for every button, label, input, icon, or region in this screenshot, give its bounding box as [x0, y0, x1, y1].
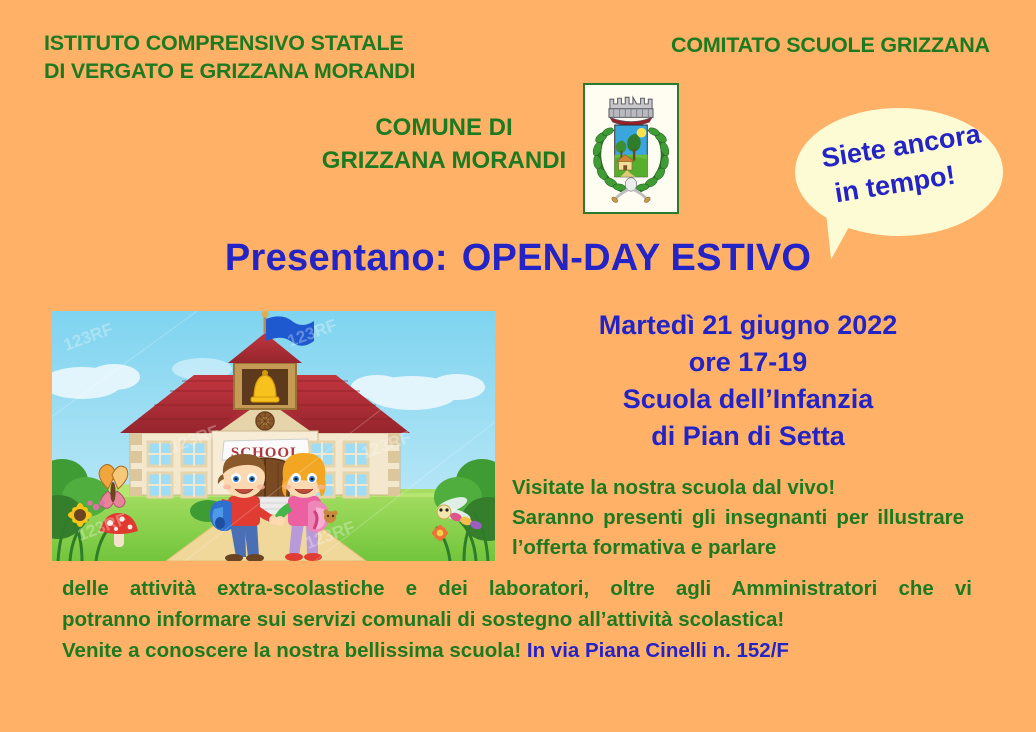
- institute-heading: ISTITUTO COMPRENSIVO STATALE DI VERGATO …: [44, 29, 415, 85]
- comune-heading-line2: GRIZZANA MORANDI: [308, 144, 580, 177]
- body-closing-line: Venite a conoscere la nostra bellissima …: [62, 635, 972, 666]
- poster-canvas: ISTITUTO COMPRENSIVO STATALE DI VERGATO …: [0, 0, 1036, 732]
- body-full-paragraph: delle attività extra-scolastiche e dei l…: [62, 573, 972, 604]
- body-text-right: Visitate la nostra scuola dal vivo! Sara…: [512, 473, 964, 563]
- title-main: OPEN-DAY ESTIVO: [462, 237, 811, 279]
- event-place-line1: Scuola dell’Infanzia: [505, 381, 991, 418]
- title-prefix: Presentano:: [225, 237, 448, 279]
- speech-bubble-text: Siete ancora in tempo!: [795, 108, 1003, 236]
- committee-heading-line1: COMITATO SCUOLE GRIZZANA: [671, 31, 990, 59]
- body-right-paragraph: Saranno presenti gli insegnanti per illu…: [512, 503, 964, 563]
- event-details: Martedì 21 giugno 2022 ore 17-19 Scuola …: [505, 307, 991, 455]
- institute-heading-line2: DI VERGATO E GRIZZANA MORANDI: [44, 57, 415, 85]
- body-invite-line: Visitate la nostra scuola dal vivo!: [512, 473, 964, 503]
- page-title: Presentano:OPEN-DAY ESTIVO: [0, 237, 1036, 280]
- event-time: ore 17-19: [505, 344, 991, 381]
- committee-heading: COMITATO SCUOLE GRIZZANA: [671, 31, 990, 59]
- school-illustration: SCHOOL: [52, 311, 495, 561]
- body-address: In via Piana Cinelli n. 152/F: [527, 639, 789, 662]
- comune-heading: COMUNE DI GRIZZANA MORANDI: [308, 111, 580, 177]
- comune-heading-line1: COMUNE DI: [308, 111, 580, 144]
- speech-bubble: Siete ancora in tempo!: [795, 108, 1003, 236]
- body-text-full: delle attività extra-scolastiche e dei l…: [62, 573, 972, 666]
- body-closing-text: Venite a conoscere la nostra bellissima …: [62, 639, 521, 662]
- comune-coat-of-arms-icon: [583, 83, 679, 214]
- event-place-line2: di Pian di Setta: [505, 418, 991, 455]
- event-date: Martedì 21 giugno 2022: [505, 307, 991, 344]
- body-full-line2: potranno informare sui servizi comunali …: [62, 604, 972, 635]
- institute-heading-line1: ISTITUTO COMPRENSIVO STATALE: [44, 29, 415, 57]
